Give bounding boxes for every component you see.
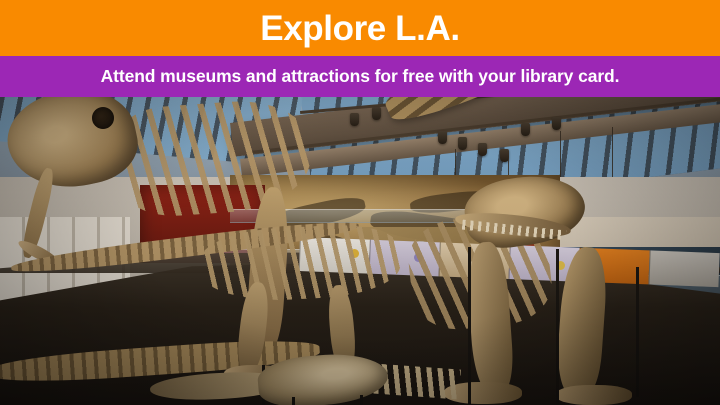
title-band: Explore L.A. xyxy=(0,0,720,56)
mount-support-pole xyxy=(636,267,639,397)
page-title: Explore L.A. xyxy=(260,11,459,46)
track-light xyxy=(478,143,487,156)
track-light xyxy=(552,117,561,130)
mount-support-pole xyxy=(292,397,295,405)
right-trex-foot xyxy=(556,385,632,405)
subtitle-band: Attend museums and attractions for free … xyxy=(0,56,720,97)
mount-support-pole xyxy=(468,247,471,405)
track-light xyxy=(458,137,467,150)
track-light xyxy=(438,131,447,144)
mount-support-pole xyxy=(556,249,559,405)
mount-support-pole xyxy=(360,395,363,405)
track-light xyxy=(372,107,381,120)
track-light xyxy=(350,113,359,126)
explore-la-promo-card: Explore L.A. Attend museums and attracti… xyxy=(0,0,720,405)
track-light xyxy=(521,123,530,136)
list-item xyxy=(648,250,719,287)
museum-dinosaur-hall-photo: EXIT xyxy=(0,97,720,405)
pendant-rod xyxy=(560,131,561,183)
left-trex-eye-socket xyxy=(92,107,114,129)
subtitle-text: Attend museums and attractions for free … xyxy=(101,68,620,86)
